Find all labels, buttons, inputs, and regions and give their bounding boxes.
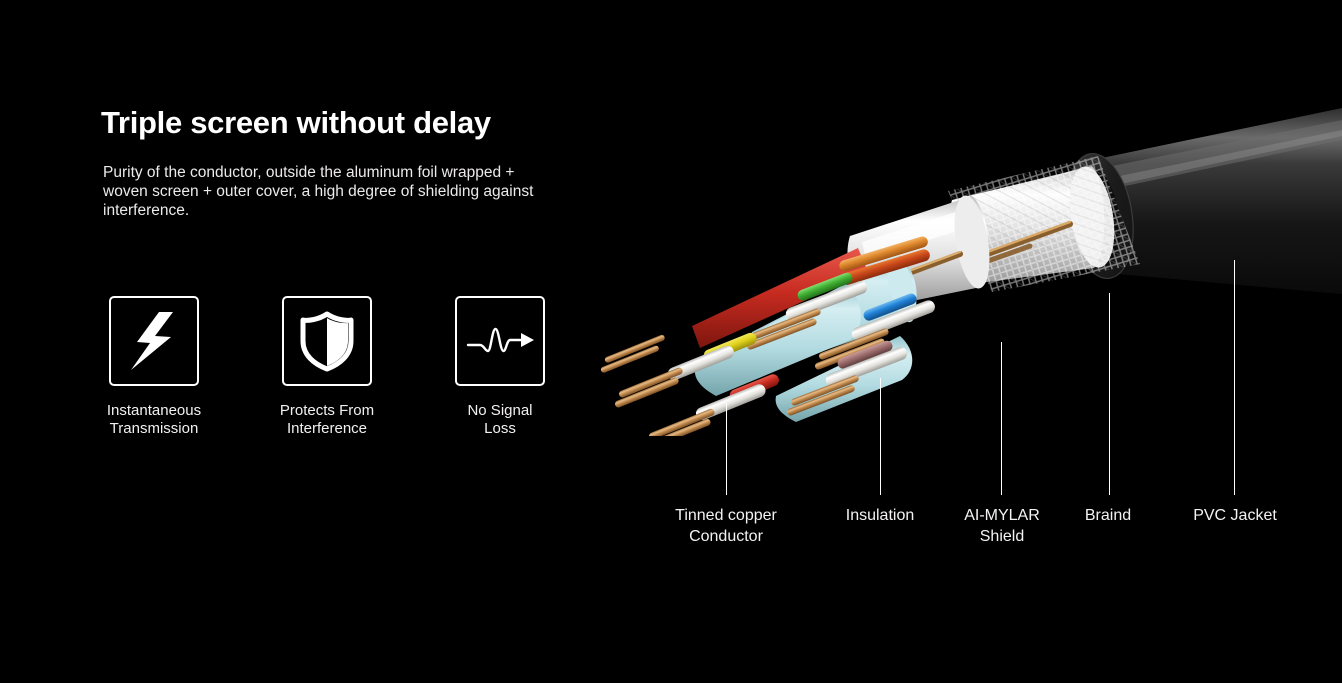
leader-line-tinned-copper [726,403,727,495]
description-text: Purity of the conductor, outside the alu… [103,163,555,220]
leader-line-insulation [880,378,881,495]
cable-cutaway-illustration [600,96,1342,436]
feature-label: Instantaneous Transmission [79,402,229,438]
callout-label-insulation: Insulation [808,505,952,526]
leader-line-pvc-jacket [1234,260,1235,495]
callout-label-tinned-copper: Tinned copper Conductor [650,505,802,547]
signal-waveform-arrow-icon [466,321,534,361]
feature-icon-box [109,296,199,386]
insulation-core-layer [600,235,937,436]
feature-protects-from-interference: Protects From Interference [252,296,402,438]
feature-icon-box [282,296,372,386]
leader-line-al-mylar-shield [1001,342,1002,495]
feature-instantaneous-transmission: Instantaneous Transmission [79,296,229,438]
shield-icon [298,310,356,372]
leader-line-braind [1109,293,1110,495]
page-title: Triple screen without delay [101,105,491,141]
tinned-copper-conductor-strands [600,334,666,374]
feature-no-signal-loss: No Signal Loss [425,296,575,438]
lightning-bolt-icon [126,310,182,372]
feature-icon-box [455,296,545,386]
callout-label-braind: Braind [1046,505,1170,526]
callout-label-pvc-jacket: PVC Jacket [1165,505,1305,526]
product-infographic: Triple screen without delay Purity of th… [0,0,1342,683]
feature-label: Protects From Interference [252,402,402,438]
feature-label: No Signal Loss [425,402,575,438]
